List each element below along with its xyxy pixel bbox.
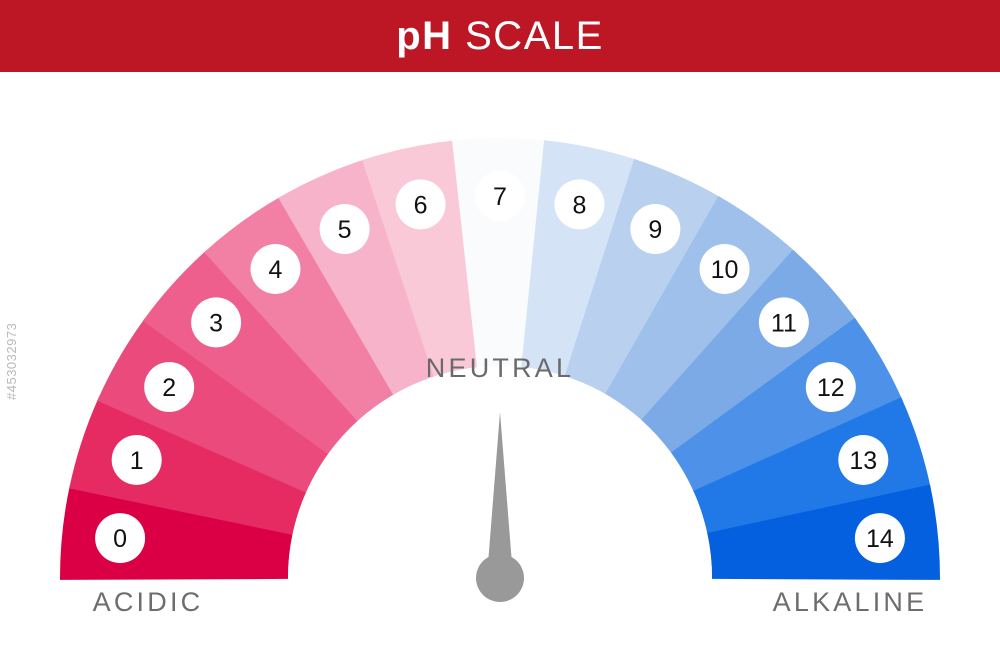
ph-badge-10[interactable]: 10 (700, 244, 750, 294)
ph-badge-value: 13 (849, 447, 877, 475)
ph-badge-9[interactable]: 9 (630, 204, 680, 254)
ph-badge-value: 12 (817, 374, 845, 402)
neutral-label: NEUTRAL (426, 353, 574, 383)
ph-badge-value: 0 (113, 525, 127, 553)
ph-badge-11[interactable]: 11 (759, 297, 809, 347)
ph-badge-0[interactable]: 0 (95, 513, 145, 563)
watermark-id: #453032973 (4, 323, 19, 400)
acidic-label: ACIDIC (93, 587, 204, 617)
ph-badge-value: 2 (162, 374, 176, 402)
needle-hub (476, 554, 524, 602)
ph-badge-7[interactable]: 7 (475, 171, 525, 221)
ph-badge-value: 7 (493, 183, 507, 211)
ph-badge-6[interactable]: 6 (396, 179, 446, 229)
alkaline-label: ALKALINE (773, 587, 928, 617)
ph-badge-13[interactable]: 13 (838, 435, 888, 485)
ph-gauge-svg: 01234567891011121314 NEUTRAL ACIDIC ALKA… (0, 72, 1000, 667)
ph-badge-value: 6 (414, 191, 428, 219)
ph-gauge: 01234567891011121314 NEUTRAL ACIDIC ALKA… (0, 72, 1000, 667)
ph-badge-4[interactable]: 4 (250, 244, 300, 294)
page-title-ph: pH (396, 14, 452, 58)
ph-badge-value: 9 (648, 216, 662, 244)
page-title: pH SCALE (396, 16, 604, 56)
page-title-scale: SCALE (453, 14, 604, 58)
ph-badge-value: 8 (572, 191, 586, 219)
ph-badge-2[interactable]: 2 (144, 362, 194, 412)
ph-badge-3[interactable]: 3 (191, 297, 241, 347)
ph-badge-value: 1 (130, 447, 144, 475)
ph-badge-5[interactable]: 5 (320, 204, 370, 254)
ph-badge-value: 14 (866, 525, 894, 553)
ph-badge-value: 4 (269, 256, 283, 284)
ph-badge-1[interactable]: 1 (112, 435, 162, 485)
ph-badge-14[interactable]: 14 (855, 513, 905, 563)
header-banner: pH SCALE (0, 0, 1000, 72)
ph-badge-value: 11 (771, 309, 797, 337)
ph-badge-value: 5 (338, 216, 352, 244)
ph-badge-value: 10 (711, 256, 739, 284)
ph-badge-value: 3 (209, 309, 223, 337)
ph-badge-8[interactable]: 8 (554, 179, 604, 229)
ph-badge-12[interactable]: 12 (806, 362, 856, 412)
